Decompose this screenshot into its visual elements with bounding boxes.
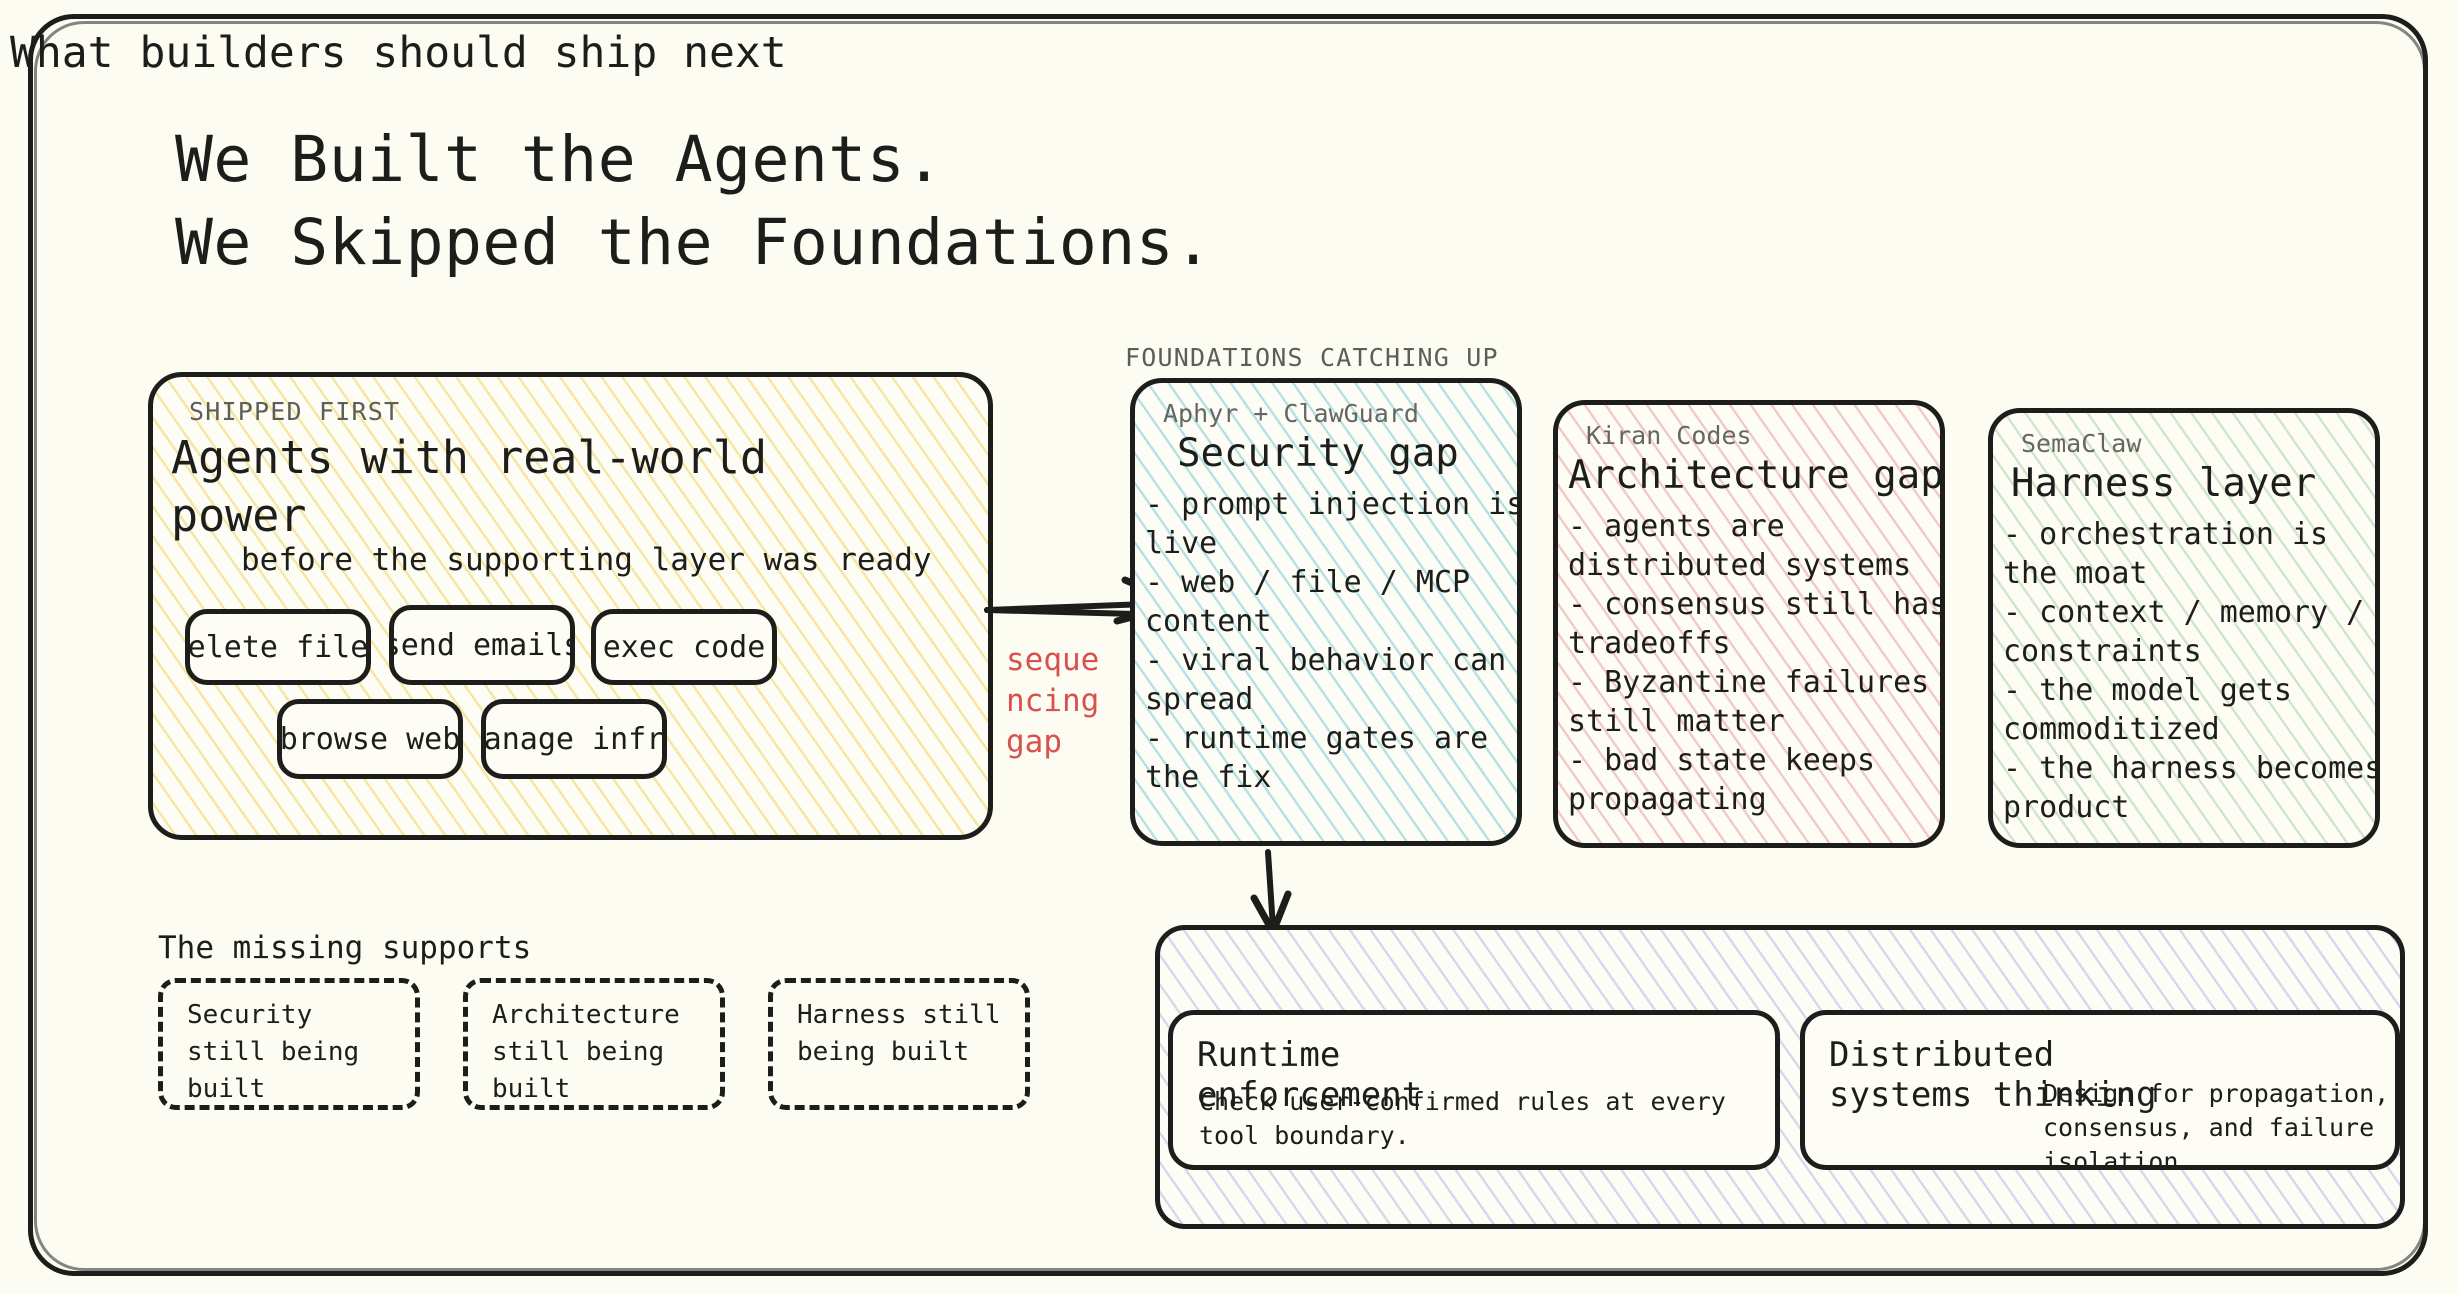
bullet: - prompt injection is live bbox=[1145, 485, 1522, 563]
capability-chip-delete-files[interactable]: delete files bbox=[185, 609, 371, 685]
title-line-1: We Built the Agents. bbox=[175, 123, 944, 196]
missing-support-architecture: Architecture still being built bbox=[463, 978, 725, 1110]
card-bullets-architecture: - agents are distributed systems - conse… bbox=[1568, 507, 1945, 819]
whiteboard-canvas: We Built the Agents. We Skipped the Foun… bbox=[0, 0, 2459, 1294]
sequencing-gap-label: sequencing gap bbox=[1006, 640, 1102, 763]
recommendation-distributed-systems[interactable]: Distributed systems thinking Design for … bbox=[1800, 1010, 2400, 1170]
capability-chip-browse-web[interactable]: browse web bbox=[277, 699, 463, 779]
foundation-card-security[interactable]: Aphyr + ClawGuard Security gap - prompt … bbox=[1130, 378, 1522, 846]
recommendation-description: Check user-confirmed rules at every tool… bbox=[1199, 1085, 1739, 1153]
missing-support-harness: Harness still being built bbox=[768, 978, 1030, 1110]
ship-next-title: What builders should ship next bbox=[10, 28, 787, 78]
shipped-first-group: SHIPPED FIRST Agents with real-world pow… bbox=[148, 372, 993, 840]
bullet: - viral behavior can spread bbox=[1145, 641, 1522, 719]
bullet: - Byzantine failures still matter bbox=[1568, 663, 1945, 741]
recommendation-runtime-enforcement[interactable]: Runtime enforcement Check user-confirmed… bbox=[1168, 1010, 1780, 1170]
bullet: - agents are distributed systems bbox=[1568, 507, 1945, 585]
missing-support-security: Security still being built bbox=[158, 978, 420, 1110]
shipped-first-heading: Agents with real-world power bbox=[171, 429, 861, 544]
bullet: - runtime gates are the fix bbox=[1145, 719, 1522, 797]
foundation-card-harness[interactable]: SemaClaw Harness layer - orchestration i… bbox=[1988, 408, 2380, 848]
bullet: - bad state keeps propagating bbox=[1568, 741, 1945, 819]
capability-chip-manage-infra[interactable]: manage infra bbox=[481, 699, 667, 779]
card-heading-security-gap: Security gap bbox=[1177, 431, 1459, 476]
page-title: We Built the Agents. We Skipped the Foun… bbox=[175, 118, 1213, 284]
shipped-first-subtitle: before the supporting layer was ready bbox=[241, 542, 932, 578]
missing-supports-title: The missing supports bbox=[158, 930, 531, 966]
card-heading-harness-layer: Harness layer bbox=[2011, 461, 2316, 506]
capability-chip-exec-code[interactable]: exec code bbox=[591, 609, 777, 685]
foundations-catching-up-label: FOUNDATIONS CATCHING UP bbox=[1125, 343, 1499, 372]
bullet: - context / memory / constraints bbox=[2003, 593, 2380, 671]
card-heading-architecture-gap: Architecture gap bbox=[1568, 453, 1944, 498]
bullet: - consensus still has tradeoffs bbox=[1568, 585, 1945, 663]
bullet: - web / file / MCP content bbox=[1145, 563, 1522, 641]
foundation-card-architecture[interactable]: Kiran Codes Architecture gap - agents ar… bbox=[1553, 400, 1945, 848]
bullet: - orchestration is the moat bbox=[2003, 515, 2380, 593]
bullet: - the harness becomes product bbox=[2003, 749, 2380, 827]
card-source-kiran-codes: Kiran Codes bbox=[1586, 421, 1752, 450]
bullet: - the model gets commoditized bbox=[2003, 671, 2380, 749]
capability-chip-send-emails[interactable]: send emails bbox=[389, 605, 575, 685]
card-source-aphyr-clawguard: Aphyr + ClawGuard bbox=[1163, 399, 1419, 428]
shipped-first-label: SHIPPED FIRST bbox=[189, 397, 400, 426]
title-line-2: We Skipped the Foundations. bbox=[175, 206, 1213, 279]
card-source-semaclaw: SemaClaw bbox=[2021, 429, 2141, 458]
card-bullets-harness: - orchestration is the moat - context / … bbox=[2003, 515, 2380, 827]
card-bullets-security: - prompt injection is live - web / file … bbox=[1145, 485, 1522, 797]
recommendation-description: Design for propagation, consensus, and f… bbox=[2043, 1077, 2393, 1170]
